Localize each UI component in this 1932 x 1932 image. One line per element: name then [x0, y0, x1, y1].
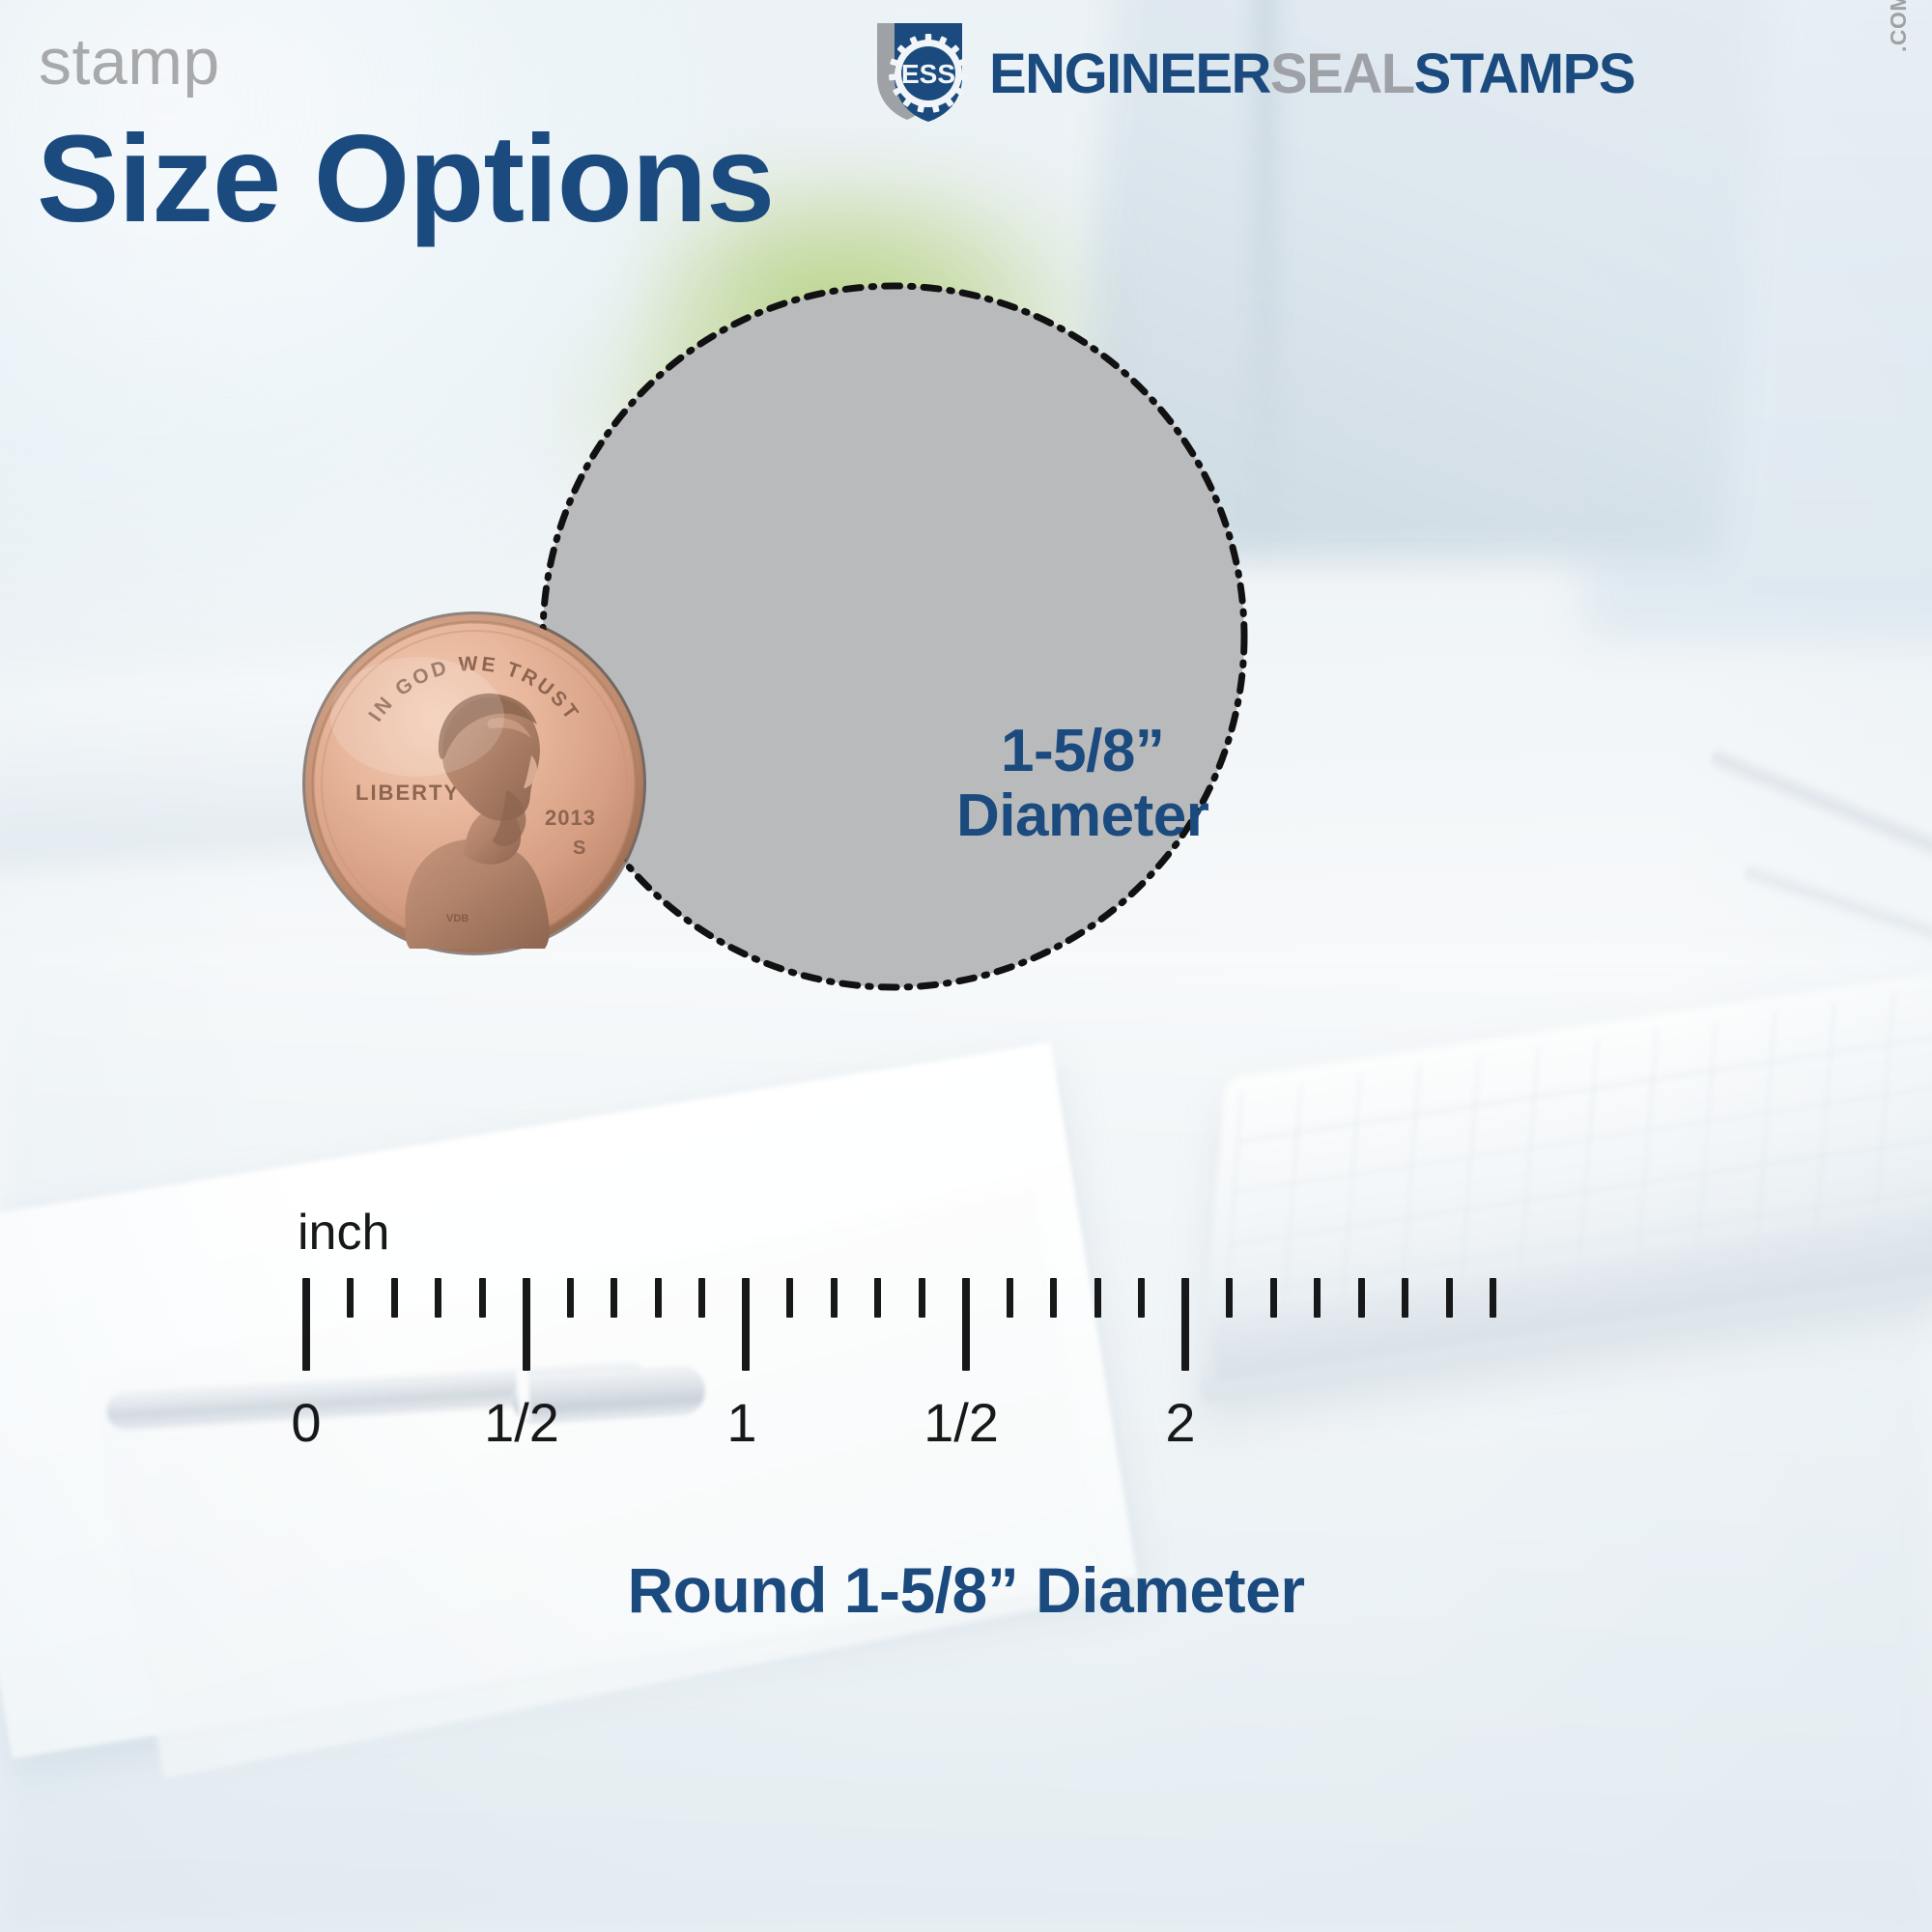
- ruler-tick-major: [742, 1278, 750, 1371]
- ruler-tick-minor: [698, 1278, 705, 1318]
- ruler-label: 1/2: [923, 1396, 999, 1450]
- svg-text:S: S: [573, 838, 585, 859]
- ruler-tick-minor: [567, 1278, 574, 1318]
- ruler-tick-major: [302, 1278, 310, 1371]
- ruler-tick-minor: [874, 1278, 881, 1318]
- ruler-tick-minor: [1490, 1278, 1496, 1318]
- eyebrow-label: stamp: [39, 29, 220, 95]
- size-circle-diameter-word: Diameter: [956, 784, 1208, 849]
- size-circle-label: 1-5/8” Diameter: [956, 720, 1208, 849]
- ruler-tick-minor: [655, 1278, 662, 1318]
- infographic-canvas: stamp Size Options: [0, 0, 1932, 1932]
- ruler-tick-minor: [831, 1278, 838, 1318]
- ruler-tick-minor: [1138, 1278, 1145, 1318]
- ruler-tick-minor: [611, 1278, 617, 1318]
- ruler-tick-minor: [1358, 1278, 1365, 1318]
- svg-text:2013: 2013: [545, 806, 596, 830]
- ruler-tick-minor: [1402, 1278, 1408, 1318]
- ruler-tick-minor: [1007, 1278, 1013, 1318]
- brand-logo[interactable]: ESS ENGINEERSEALSTAMPS .COM: [869, 17, 1913, 122]
- page-title: Size Options: [37, 118, 774, 241]
- ruler-tick-minor: [786, 1278, 793, 1318]
- ruler-tick-minor: [435, 1278, 441, 1318]
- ruler-label: 2: [1165, 1396, 1195, 1450]
- svg-text:LIBERTY: LIBERTY: [355, 781, 460, 805]
- inch-ruler: inch 01/211/22: [0, 1207, 1932, 1526]
- penny-reference-coin: IN GOD WE TRUST LIBERTY 2013 S: [301, 611, 647, 956]
- ruler-tick-minor: [391, 1278, 398, 1318]
- ruler-tick-minor: [1314, 1278, 1321, 1318]
- brand-tld: .COM: [1886, 0, 1912, 52]
- brand-word-engineer: ENGINEER: [989, 43, 1270, 105]
- ruler-tick-major: [523, 1278, 530, 1371]
- ruler-label: 1/2: [484, 1396, 559, 1450]
- ruler-tick-minor: [1446, 1278, 1453, 1318]
- brand-word-stamps: STAMPS: [1414, 43, 1634, 105]
- ruler-tick-major: [962, 1278, 970, 1371]
- brand-word-seal: SEAL: [1270, 43, 1414, 105]
- ruler-tick-minor: [479, 1278, 486, 1318]
- ruler-tick-major: [1181, 1278, 1189, 1371]
- ruler-tick-minor: [1226, 1278, 1233, 1318]
- ruler-tick-minor: [919, 1278, 925, 1318]
- ruler-unit-label: inch: [298, 1207, 389, 1258]
- ess-shield-gear-icon: ESS: [869, 17, 983, 122]
- size-caption: Round 1-5/8” Diameter: [0, 1553, 1932, 1627]
- size-circle-dimension: 1-5/8”: [956, 720, 1208, 784]
- brand-wordmark: ENGINEERSEALSTAMPS: [989, 46, 1634, 102]
- ruler-tick-minor: [1270, 1278, 1277, 1318]
- ruler-tick-minor: [1050, 1278, 1057, 1318]
- svg-text:VDB: VDB: [446, 913, 469, 924]
- ruler-tick-minor: [347, 1278, 354, 1318]
- ruler-label: 1: [726, 1396, 756, 1450]
- svg-text:ESS: ESS: [901, 59, 955, 89]
- ruler-tick-minor: [1094, 1278, 1101, 1318]
- ruler-label: 0: [291, 1396, 321, 1450]
